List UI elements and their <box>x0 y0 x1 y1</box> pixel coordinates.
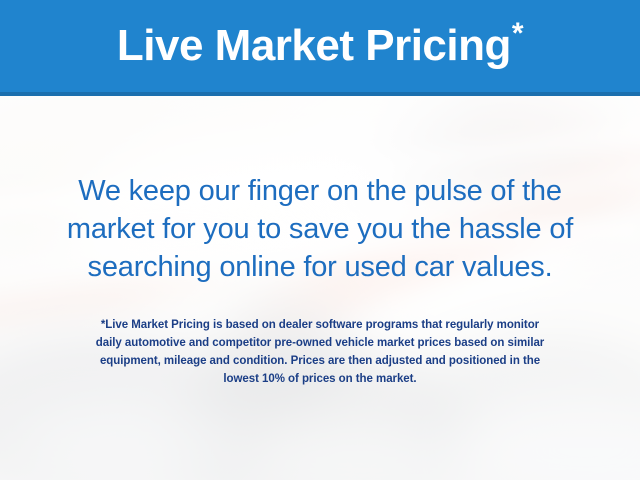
headline-line-1: We keep our finger on the pulse of the <box>0 172 640 210</box>
banner-title-asterisk: * <box>512 19 523 49</box>
disclaimer-line-2: daily automotive and competitor pre-owne… <box>0 334 640 352</box>
headline-line-3: searching online for used car values. <box>0 248 640 286</box>
disclaimer-line-1: *Live Market Pricing is based on dealer … <box>0 316 640 334</box>
disclaimer-line-4: lowest 10% of prices on the market. <box>0 370 640 388</box>
disclaimer: *Live Market Pricing is based on dealer … <box>0 316 640 388</box>
banner-title: Live Market Pricing* <box>0 0 640 92</box>
headline-line-2: market for you to save you the hassle of <box>0 210 640 248</box>
header-band-bottom-rule <box>0 92 640 96</box>
banner-title-text: Live Market Pricing <box>117 24 511 68</box>
headline: We keep our finger on the pulse of the m… <box>0 172 640 286</box>
disclaimer-line-3: equipment, mileage and condition. Prices… <box>0 352 640 370</box>
live-market-pricing-banner: Live Market Pricing* We keep our finger … <box>0 0 640 480</box>
